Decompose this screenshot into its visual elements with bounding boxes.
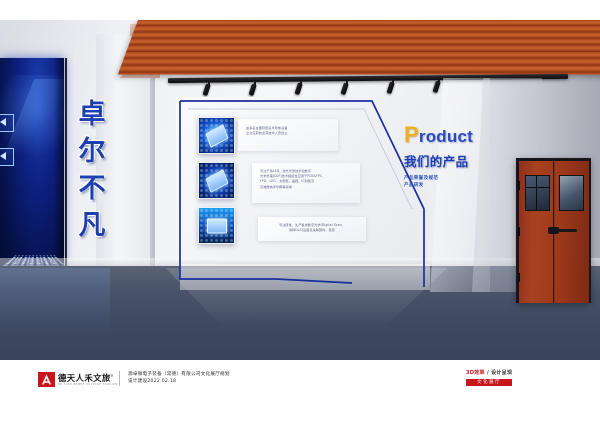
- led-frame: [0, 58, 67, 270]
- exhibit-text-card: 专注于用LED、激光光源技术和数字 光学处理(DLP)技术相结合应用于PCB&F…: [252, 163, 360, 203]
- exhibit-text-card: 由多名在国际知名半导体设备 企业任职的资深技术人员创立: [238, 119, 338, 151]
- slogan-char-2: 尔: [72, 133, 112, 170]
- product-initial-letter: P: [404, 122, 419, 147]
- product-title-rest: roduct: [419, 127, 473, 146]
- door-hinge-icon: [518, 181, 521, 190]
- card-line: 简称DLS)设备及关联部件、装置: [268, 228, 356, 233]
- product-subtitle-2: 产品研发: [404, 182, 473, 189]
- thumb-chip-wireframe-image: [198, 162, 235, 199]
- door-window-left: [525, 175, 550, 211]
- spotlight-icon: [436, 77, 441, 93]
- product-english-title: Product: [404, 126, 473, 146]
- project-line-1: 源卓微电子装备（常德）有限公司文化展厅规划: [128, 371, 230, 378]
- floor-reflection-led: [0, 268, 110, 334]
- exhibit-text-card: 专注研发、生产各类数字光学(Digital-Scan、 简称DLS)设备及关联部…: [258, 217, 366, 241]
- thumb-circuit-board-image: [198, 117, 235, 154]
- double-door[interactable]: [516, 158, 591, 303]
- project-info: 源卓微电子装备（常德）有限公司文化展厅规划 设计建设2022.02.18: [128, 371, 230, 385]
- card-line: 高端微纳米印刷等领域: [260, 185, 352, 190]
- spotlight-icon: [298, 79, 303, 95]
- wood-slat-ceiling: [118, 20, 600, 75]
- door-hinge-icon: [518, 273, 521, 282]
- brand-trademark: ®: [111, 374, 114, 378]
- footer-badge-caption: 3D效果 / 设计呈现: [466, 370, 512, 377]
- spotlight-icon: [344, 79, 349, 95]
- spotlight-icon: [206, 80, 211, 96]
- product-chinese-title: 我们的产品: [404, 151, 473, 170]
- thumb-processor-scan-image: [198, 207, 235, 244]
- spotlight-icon: [252, 80, 257, 96]
- brand-name-cn: 德天人禾文旅®: [58, 371, 118, 383]
- brand-name-block: 德天人禾文旅® DE TIAN RENHE CULTURE TOURISM: [58, 371, 118, 387]
- slogan-char-1: 卓: [72, 96, 112, 133]
- exhibition-render-canvas: 卓 尔 不 凡 由多名在国际知名半导体设备 企业任职的资深技术人员创立: [0, 0, 600, 424]
- door-leaves[interactable]: [519, 161, 589, 304]
- door-hinge-icon: [518, 227, 521, 236]
- footer-badge-bar: 文化展厅: [466, 379, 512, 387]
- spotlight-icon: [390, 78, 395, 94]
- badge-3d-label: 3D效果: [466, 370, 485, 376]
- footer-angled-cut: [330, 360, 600, 424]
- product-headline-block: Product 我们的产品 产品荣誉及规范 产品研发: [404, 126, 473, 190]
- brand-logo-icon: [38, 372, 55, 387]
- top-white-margin: [0, 0, 600, 20]
- card-line: 企业任职的资深技术人员创立: [246, 131, 330, 136]
- footer-badge: 3D效果 / 设计呈现 文化展厅: [466, 370, 512, 386]
- door-window-right: [559, 175, 584, 211]
- project-line-2: 设计建设2022.02.18: [128, 378, 230, 385]
- wall-slogan: 卓 尔 不 凡: [72, 96, 112, 244]
- slogan-char-4: 凡: [72, 207, 112, 244]
- footer-divider: [119, 371, 120, 386]
- brand-name-en: DE TIAN RENHE CULTURE TOURISM: [58, 383, 118, 387]
- slogan-char-3: 不: [72, 170, 112, 207]
- exhibition-room: 卓 尔 不 凡 由多名在国际知名半导体设备 企业任职的资深技术人员创立: [0, 14, 600, 360]
- badge-design-label: 设计呈现: [491, 370, 512, 376]
- product-subtitle-1: 产品荣誉及规范: [404, 175, 473, 182]
- door-handle-icon[interactable]: [557, 229, 577, 232]
